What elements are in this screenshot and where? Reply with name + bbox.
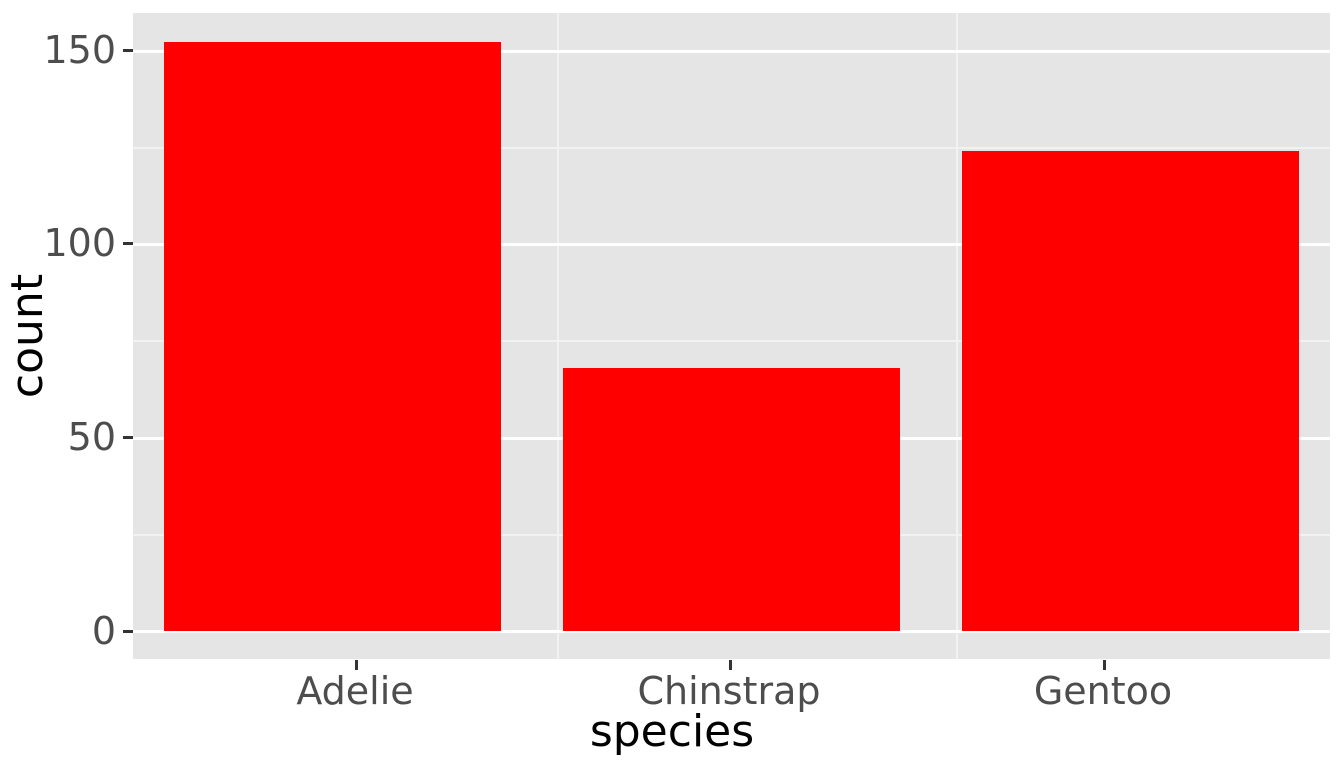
bar-chart-figure: 150 100 50 0 count Adelie Chinstrap Gent… <box>0 0 1344 768</box>
plot-panel <box>133 13 1330 659</box>
tick-label-y-0: 0 <box>0 612 116 650</box>
axis-title-y: count <box>6 274 50 398</box>
tick-mark-y-100 <box>123 242 133 245</box>
tick-label-y-100: 100 <box>0 224 116 262</box>
tick-mark-y-150 <box>123 49 133 52</box>
axis-title-x: species <box>0 710 1344 754</box>
tick-mark-y-50 <box>123 436 133 439</box>
bar-adelie[interactable] <box>164 42 501 631</box>
bar-chinstrap[interactable] <box>563 368 900 631</box>
tick-label-x-gentoo: Gentoo <box>903 672 1303 710</box>
tick-mark-y-0 <box>123 630 133 633</box>
tick-label-y-150: 150 <box>0 31 116 69</box>
bar-gentoo[interactable] <box>962 151 1299 631</box>
tick-label-y-50: 50 <box>0 418 116 456</box>
tick-label-x-chinstrap: Chinstrap <box>529 672 929 710</box>
gridline-minor-x-adelie-chinstrap <box>557 13 559 659</box>
tick-label-x-adelie: Adelie <box>155 672 555 710</box>
gridline-minor-x-chinstrap-gentoo <box>956 13 958 659</box>
